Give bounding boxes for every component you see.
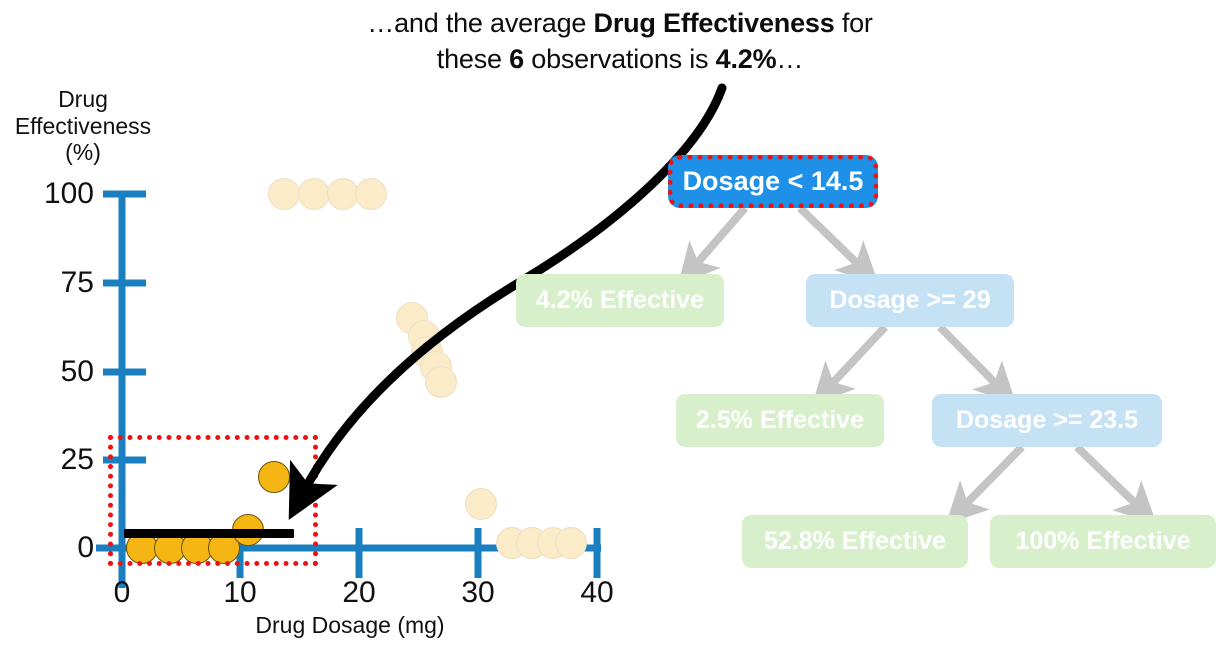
caption-line-1: …and the average Drug Effectiveness for	[367, 8, 872, 38]
tree-edge-n29-right	[940, 327, 1000, 388]
y-tick-label-100: 100	[16, 179, 94, 209]
x-tick-label-10: 10	[210, 578, 270, 608]
caption-text: …and the average Drug Effectiveness for …	[280, 6, 960, 77]
y-tick-label-75: 75	[16, 268, 94, 298]
data-point	[465, 488, 497, 520]
tree-node-leaf-4-2[interactable]: 4.2% Effective	[516, 274, 724, 327]
data-point	[425, 366, 457, 398]
x-tick-label-40: 40	[567, 578, 627, 608]
tree-node-leaf-2-5[interactable]: 2.5% Effective	[676, 394, 884, 447]
x-axis-title: Drug Dosage (mg)	[170, 612, 530, 639]
tree-node-root[interactable]: Dosage < 14.5	[668, 155, 878, 208]
x-tick-label-20: 20	[329, 578, 389, 608]
caption-line-2: these 6 observations is 4.2%…	[437, 44, 803, 74]
tree-node-leaf-100[interactable]: 100% Effective	[990, 515, 1216, 568]
slide-canvas: …and the average Drug Effectiveness for …	[0, 0, 1229, 655]
data-point	[355, 178, 387, 210]
y-tick-label-50: 50	[16, 357, 94, 387]
y-tick-label-25: 25	[16, 445, 94, 475]
data-point	[268, 178, 300, 210]
tree-node-leaf-52-8[interactable]: 52.8% Effective	[742, 515, 968, 568]
tree-edge-root-right	[800, 208, 862, 268]
tree-edge-n235-left	[962, 447, 1022, 508]
x-tick-label-0: 0	[92, 578, 152, 608]
tree-edge-root-left	[693, 208, 745, 268]
y-axis-title: Drug Effectiveness (%)	[8, 86, 158, 166]
data-point	[327, 178, 359, 210]
tree-node-dosage-23-5[interactable]: Dosage >= 23.5	[932, 394, 1162, 447]
tree-node-dosage-29[interactable]: Dosage >= 29	[806, 274, 1014, 327]
tree-edge-n29-left	[828, 327, 885, 388]
data-point	[298, 178, 330, 210]
selection-box	[108, 435, 318, 566]
data-point	[555, 527, 587, 559]
x-tick-label-30: 30	[448, 578, 508, 608]
tree-edge-n235-right	[1077, 447, 1140, 508]
y-tick-label-0: 0	[16, 533, 94, 563]
